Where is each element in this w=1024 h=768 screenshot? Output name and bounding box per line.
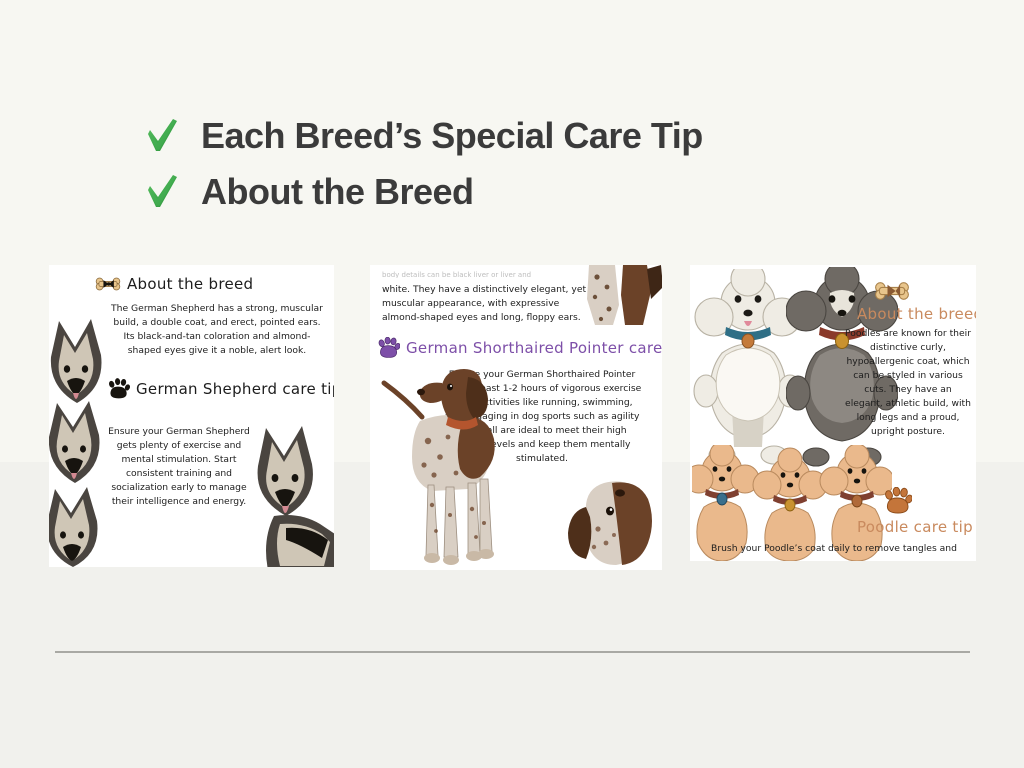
breed-cards-row: About the breed The German Shepherd has … [0,265,1024,570]
bone-with-bowtie-icon [95,275,121,293]
green-check-icon [145,116,179,156]
card-about-text-clipped: body details can be black liver or liver… [382,270,582,278]
green-check-icon [145,172,179,212]
card-about-heading: About the breed [857,305,976,323]
card-about-text: The German Shepherd has a strong, muscul… [111,302,323,358]
card-care-text: Ensure your German Shorthaired Pointer g… [442,368,642,466]
breed-card-german-shorthaired-pointer[interactable]: body details can be black liver or liver… [370,265,662,570]
card-care-heading: German Shepherd care tip [136,380,334,398]
heading-item-about-breed: About the Breed [145,164,905,220]
headings-list: Each Breed’s Special Care Tip About the … [145,108,905,220]
card-about-heading-row: About the breed [95,275,253,293]
bone-icon [874,279,910,303]
pointer-artwork-head [560,477,662,570]
breed-card-poodle[interactable]: About the breed Poodles are known for th… [690,265,976,561]
card-care-text: Brush your Poodle’s coat daily to remove… [698,542,970,556]
card-about-heading-row: About the breed [857,305,976,323]
orange-paw-print-icon [882,487,912,515]
card-care-heading-row: German Shepherd care tip [106,378,334,400]
black-paw-print-icon [106,378,130,400]
purple-paw-print-icon [376,337,400,359]
card-care-heading: German Shorthaired Pointer care tip [406,339,662,357]
poodle-artwork-white [692,269,804,479]
card-care-heading: Poodle care tip [857,518,973,536]
bottom-divider [55,651,970,653]
heading-item-care-tip: Each Breed’s Special Care Tip [145,108,905,164]
card-care-heading-row: Poodle care tip [857,518,973,536]
pointer-artwork-top [585,265,662,325]
card-care-text: Ensure your German Shepherd gets plenty … [104,425,254,509]
card-care-heading-row: German Shorthaired Pointer care tip [376,337,662,359]
breed-card-german-shepherd[interactable]: About the breed The German Shepherd has … [49,265,334,567]
card-about-text: white. They have a distinctively elegant… [382,283,587,325]
heading-label: Each Breed’s Special Care Tip [201,118,703,154]
heading-label: About the Breed [201,174,474,210]
card-about-text: Poodles are known for their distinctive … [844,327,972,439]
card-about-heading: About the breed [127,275,253,293]
